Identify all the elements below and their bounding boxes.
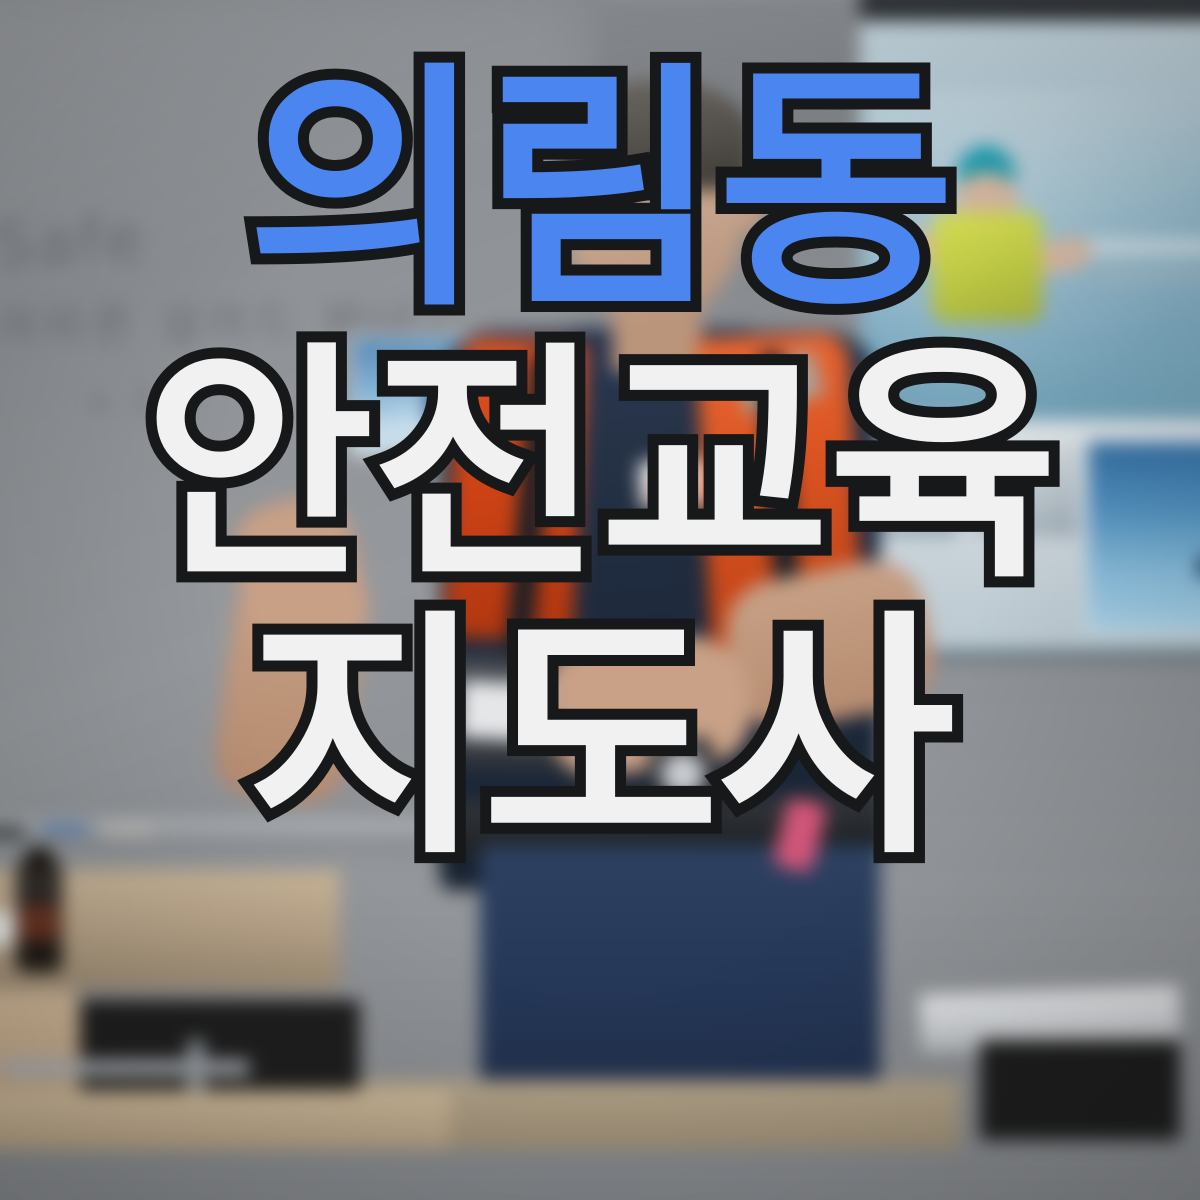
title-line-district: 의림동	[247, 62, 953, 320]
poster-canvas: Safe 저라른 설아드 봐나 ㅅㅓㅇ 안전교육	[0, 0, 1200, 1200]
title-overlay: 의림동 안전교육 지도사	[0, 0, 1200, 1200]
title-line-topic: 안전교육	[144, 342, 1056, 592]
title-line-role: 지도사	[247, 610, 953, 868]
